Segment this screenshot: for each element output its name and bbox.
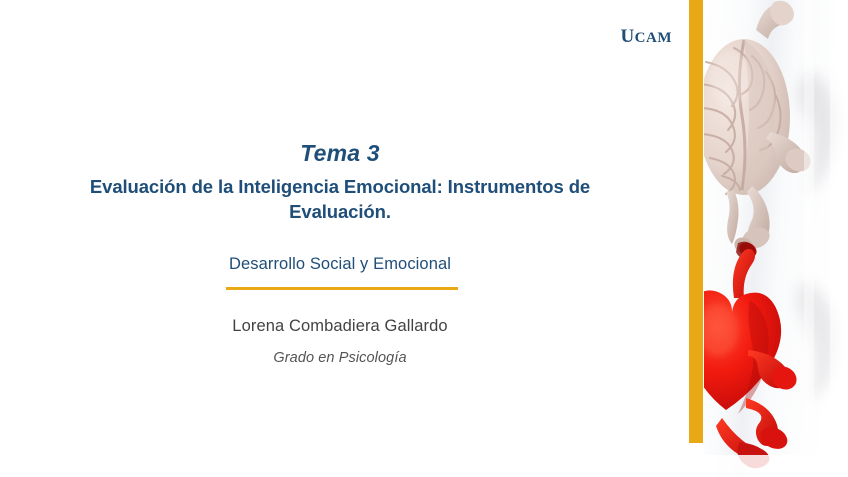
title-slide: UCAM Tema 3 Evaluación de la Inteligenci… xyxy=(0,0,848,477)
course-name: Desarrollo Social y Emocional xyxy=(40,255,640,274)
brain-and-heart-illustration xyxy=(704,0,848,477)
ucam-logo: UCAM xyxy=(0,27,672,46)
author-degree: Grado en Psicología xyxy=(40,350,640,366)
author-name: Lorena Combadiera Gallardo xyxy=(40,317,640,336)
ucam-logo-rest: CAM xyxy=(635,30,672,46)
ucam-logo-first-letter: U xyxy=(620,26,634,47)
decorative-image-panel xyxy=(704,0,848,477)
title-block: Tema 3 Evaluación de la Inteligencia Emo… xyxy=(40,140,640,225)
accent-bar xyxy=(689,0,703,443)
slide-heading: Evaluación de la Inteligencia Emocional:… xyxy=(40,175,640,224)
title-divider xyxy=(226,287,458,290)
topic-label: Tema 3 xyxy=(40,140,640,166)
